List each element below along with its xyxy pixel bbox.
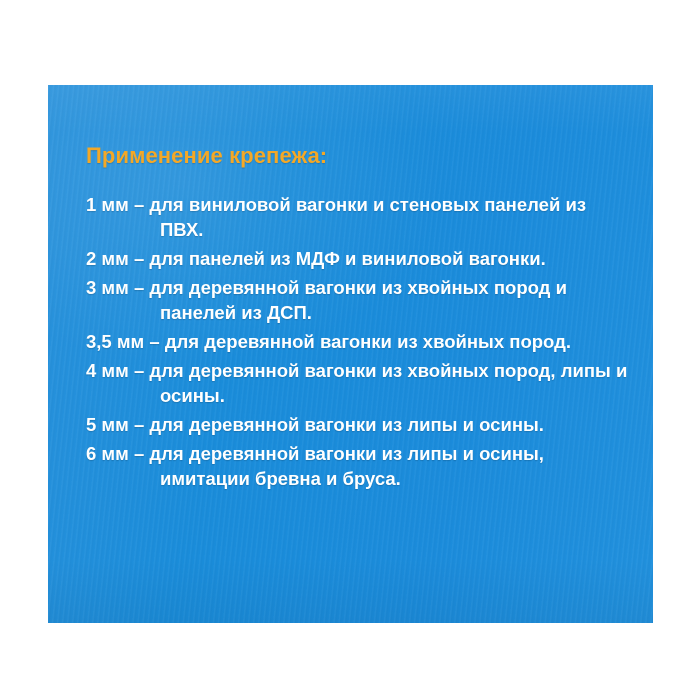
fastener-spec-list: 1 мм – для виниловой вагонки и стеновых … [86, 192, 633, 491]
spec-description: для виниловой вагонки и стеновых панелей… [149, 194, 586, 240]
spec-size: 2 мм [86, 248, 129, 269]
spec-size: 3 мм [86, 277, 129, 298]
spec-dash: – [134, 277, 144, 298]
spec-size: 3,5 мм [86, 331, 144, 352]
spec-size: 6 мм [86, 443, 129, 464]
spec-description: для панелей из МДФ и виниловой вагонки. [149, 248, 545, 269]
spec-dash: – [149, 331, 159, 352]
spec-size: 4 мм [86, 360, 129, 381]
list-item: 1 мм – для виниловой вагонки и стеновых … [86, 192, 633, 242]
spec-description: для деревянной вагонки из хвойных пород,… [149, 360, 627, 406]
spec-dash: – [134, 414, 144, 435]
spec-size: 1 мм [86, 194, 129, 215]
list-item: 6 мм – для деревянной вагонки из липы и … [86, 441, 633, 491]
page-title: Применение крепежа: [86, 143, 633, 169]
spec-dash: – [134, 194, 144, 215]
spec-description: для деревянной вагонки из хвойных пород. [165, 331, 571, 352]
list-item: 5 мм – для деревянной вагонки из липы и … [86, 412, 633, 437]
spec-description: для деревянной вагонки из хвойных пород … [149, 277, 567, 323]
spec-description: для деревянной вагонки из липы и осины. [149, 414, 544, 435]
list-item: 3,5 мм – для деревянной вагонки из хвойн… [86, 329, 633, 354]
spec-dash: – [134, 443, 144, 464]
product-label-panel: Применение крепежа: 1 мм – для виниловой… [48, 85, 653, 623]
list-item: 3 мм – для деревянной вагонки из хвойных… [86, 275, 633, 325]
page-root: Применение крепежа: 1 мм – для виниловой… [0, 0, 700, 700]
spec-dash: – [134, 360, 144, 381]
spec-description: для деревянной вагонки из липы и осины, … [149, 443, 544, 489]
list-item: 2 мм – для панелей из МДФ и виниловой ва… [86, 246, 633, 271]
spec-size: 5 мм [86, 414, 129, 435]
label-content: Применение крепежа: 1 мм – для виниловой… [86, 143, 633, 491]
list-item: 4 мм – для деревянной вагонки из хвойных… [86, 358, 633, 408]
spec-dash: – [134, 248, 144, 269]
